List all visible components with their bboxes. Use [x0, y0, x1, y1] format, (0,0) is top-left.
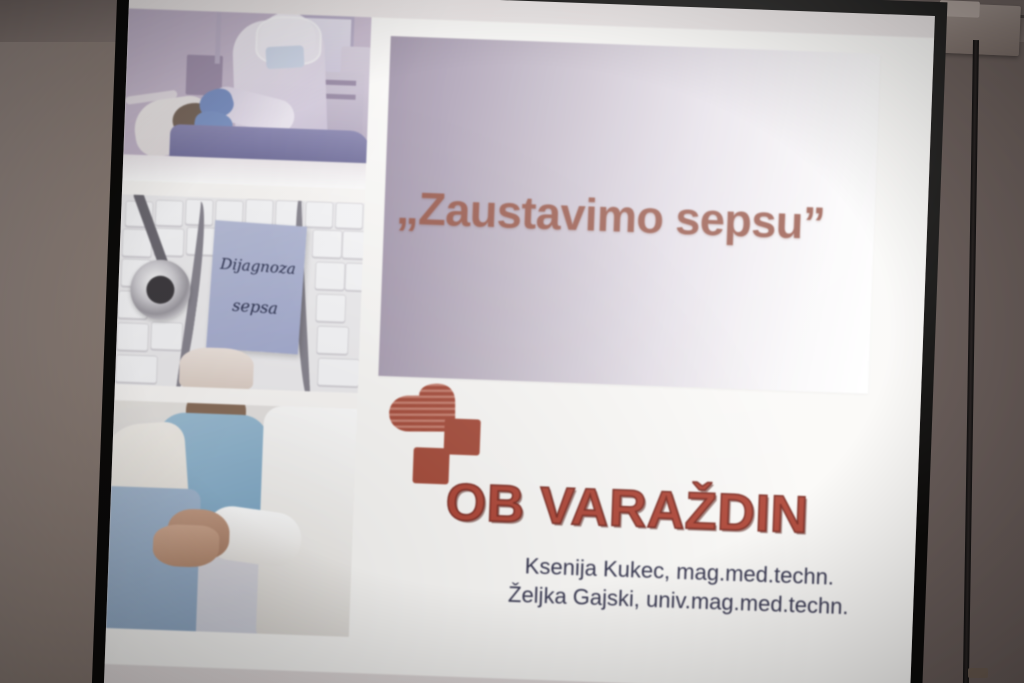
holding-patient-hand-photo	[106, 400, 358, 649]
slide-content-area: „Zaustavimo sepsu”	[347, 17, 934, 683]
note-line-1: Dijagnoza	[212, 254, 305, 279]
title-gradient-panel: „Zaustavimo sepsu”	[378, 36, 880, 394]
slide-title: „Zaustavimo sepsu”	[396, 182, 876, 251]
sticky-note: Dijagnoza sepsa	[206, 220, 307, 354]
presentation-slide: Dijagnoza sepsa	[105, 8, 934, 683]
organization-name: OB VARAŽDIN	[445, 472, 917, 549]
screen-rod-foot	[968, 668, 988, 678]
projection-screen-frame: Dijagnoza sepsa	[91, 0, 947, 683]
icu-ppe-caregiver-photo	[122, 8, 371, 189]
projected-slide-scene: Dijagnoza sepsa	[0, 0, 1024, 683]
note-line-2: sepsa	[209, 294, 302, 320]
author-list: Ksenija Kukec, mag.med.techn. Željka Gaj…	[450, 549, 908, 624]
projection-screen-surface: Dijagnoza sepsa	[104, 0, 935, 683]
photo-collage-column: Dijagnoza sepsa	[105, 8, 372, 676]
stethoscope-keyboard-note-photo: Dijagnoza sepsa	[115, 194, 365, 393]
